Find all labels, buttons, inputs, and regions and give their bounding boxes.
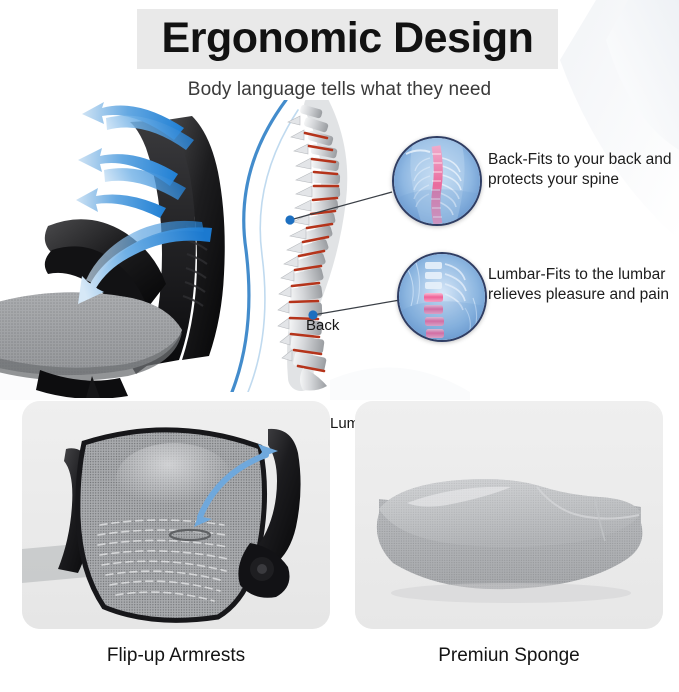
spine-xray-thoracic-icon xyxy=(392,136,482,226)
mesh-chair-back-armrest-icon xyxy=(22,401,330,629)
mesh-seat-cushion-icon xyxy=(355,401,663,629)
page-title: Ergonomic Design xyxy=(137,9,558,69)
ergonomic-illustration-stage: Back Lumbar xyxy=(0,100,679,392)
airflow-arrows-icon xyxy=(34,100,224,310)
flip-up-armrests-card xyxy=(22,401,330,629)
lumbar-callout-text: Lumbar-Fits to the lumbar relieves pleas… xyxy=(488,265,679,305)
spine-xray-lumbar-icon xyxy=(397,252,487,342)
premium-sponge-caption: Premiun Sponge xyxy=(355,645,663,667)
infographic-page: Ergonomic Design Body language tells wha… xyxy=(0,0,679,692)
back-label: Back xyxy=(306,317,339,334)
back-callout-text: Back-Fits to your back and protects your… xyxy=(488,150,679,190)
flip-up-armrests-caption: Flip-up Armrests xyxy=(22,645,330,667)
premium-sponge-card xyxy=(355,401,663,629)
